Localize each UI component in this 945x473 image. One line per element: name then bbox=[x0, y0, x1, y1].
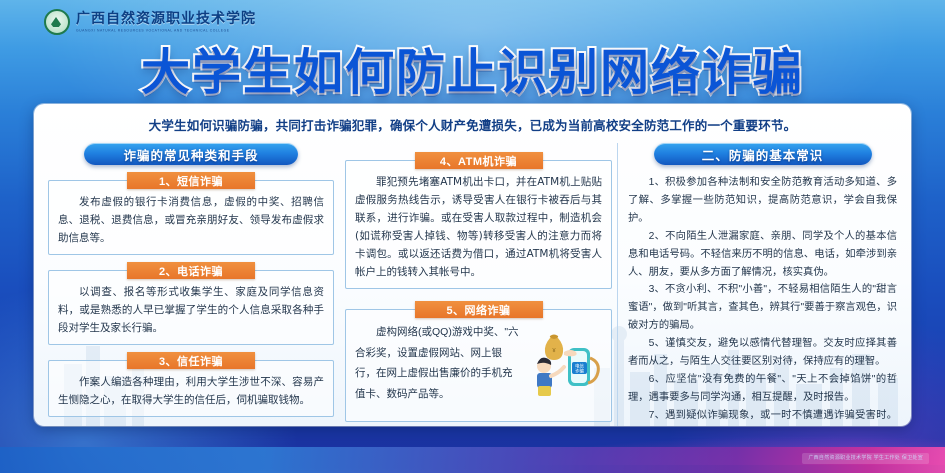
prevention-tip: 7、遇到疑似诈骗现象，或一时不慎遭遇诈骗受害时。应及时求助公安民警或保卫部门，并… bbox=[628, 407, 897, 426]
column-right: 二、防骗的基本常识 1、积极参加各种法制和安全防范教育活动多知道、多了解、多掌握… bbox=[617, 143, 897, 426]
prevention-tip: 1、积极参加各种法制和安全防范教育活动多知道、多了解、多掌握一些防范知识，提高防… bbox=[628, 174, 897, 228]
person-icon bbox=[537, 358, 564, 396]
fraud-card-sms: 1、短信诈骗 发布虚假的银行卡消费信息，虚假的中奖、招聘信息、退税、退费信息，或… bbox=[48, 180, 334, 255]
telecom-fraud-illustration: ￥ 电信 诈骗 bbox=[524, 324, 602, 398]
fraud-card-sms-title: 1、短信诈骗 bbox=[127, 172, 255, 189]
poster-subtitle: 大学生如何识骗防骗，共同打击诈骗犯罪，确保个人财产免遭损失，已成为当前高校安全防… bbox=[50, 115, 895, 134]
fraud-card-phone: 2、电话诈骗 以调查、报名等形式收集学生、家庭及同学信息资料，或是熟悉的人早已掌… bbox=[48, 270, 334, 345]
left-section-heading: 诈骗的常见种类和手段 bbox=[84, 143, 298, 165]
columns-container: 诈骗的常见种类和手段 1、短信诈骗 发布虚假的银行卡消费信息，虚假的中奖、招聘信… bbox=[34, 143, 911, 426]
poster-canvas: 广西自然资源职业技术学院 GUANGXI NATURAL RESOURCES V… bbox=[0, 0, 945, 473]
phone-label-line2: 诈骗 bbox=[575, 368, 584, 375]
fraud-card-network: 5、网络诈骗 虚构网络(或QQ)游戏中奖、"六合彩奖，设置虚假网站、网上银行，在… bbox=[345, 309, 612, 422]
column-left: 诈骗的常见种类和手段 1、短信诈骗 发布虚假的银行卡消费信息，虚假的中奖、招聘信… bbox=[48, 143, 340, 426]
prevention-tips-list: 1、积极参加各种法制和安全防范教育活动多知道、多了解、多掌握一些防范知识，提高防… bbox=[628, 174, 897, 426]
fraud-card-atm: 4、ATM机诈骗 罪犯预先堵塞ATM机出卡口，并在ATM机上贴贴虚假服务热线告示… bbox=[345, 160, 612, 289]
fraud-card-atm-body: 罪犯预先堵塞ATM机出卡口，并在ATM机上贴贴虚假服务热线告示，诱导受害人在银行… bbox=[355, 173, 602, 281]
phone-label-line1: 电信 bbox=[575, 363, 584, 370]
fraud-card-atm-title: 4、ATM机诈骗 bbox=[415, 152, 543, 169]
prevention-tip: 5、谨慎交友，避免以感情代替理智。交友时应择其善者而从之，与陌生人交往要区别对待… bbox=[628, 335, 897, 371]
fraud-card-network-content: 虚构网络(或QQ)游戏中奖、"六合彩奖，设置虚假网站、网上银行，在网上虚假出售廉… bbox=[355, 322, 602, 404]
college-brand: 广西自然资源职业技术学院 GUANGXI NATURAL RESOURCES V… bbox=[44, 9, 256, 35]
column-middle: 4、ATM机诈骗 罪犯预先堵塞ATM机出卡口，并在ATM机上贴贴虚假服务热线告示… bbox=[340, 143, 617, 426]
right-section-heading: 二、防骗的基本常识 bbox=[654, 143, 872, 165]
prevention-tip: 2、不向陌生人泄漏家庭、亲朋、同学及个人的基本信息和电话号码。不轻信来历不明的信… bbox=[628, 228, 897, 282]
fraud-card-phone-body: 以调查、报名等形式收集学生、家庭及同学信息资料，或是熟悉的人早已掌握了学生的个人… bbox=[58, 283, 324, 337]
fraud-card-network-title: 5、网络诈骗 bbox=[415, 301, 543, 318]
footer-credit: 广西自然资源职业技术学院 学生工作处 保卫处宣 bbox=[802, 453, 929, 465]
content-panel: 大学生如何识骗防骗，共同打击诈骗犯罪，确保个人财产免遭损失，已成为当前高校安全防… bbox=[34, 104, 911, 426]
fraud-card-trust-title: 3、信任诈骗 bbox=[127, 352, 255, 369]
fraud-card-trust-body: 作案人编造各种理由，利用大学生涉世不深、容易产生恻隐之心，在取得大学生的信任后，… bbox=[58, 373, 324, 409]
fraud-card-trust: 3、信任诈骗 作案人编造各种理由，利用大学生涉世不深、容易产生恻隐之心，在取得大… bbox=[48, 360, 334, 417]
college-seal-icon bbox=[44, 9, 70, 35]
telecom-fraud-illustration-svg: ￥ 电信 诈骗 bbox=[524, 324, 602, 398]
college-name-cn: 广西自然资源职业技术学院 bbox=[76, 12, 256, 26]
fraud-card-sms-body: 发布虚假的银行卡消费信息，虚假的中奖、招聘信息、退税、退费信息，或冒充亲朋好友、… bbox=[58, 193, 324, 247]
prevention-tip: 6、应坚信"没有免费的午餐"、"天上不会掉馅饼"的哲理，遇事要多与同学沟通，相互… bbox=[628, 371, 897, 407]
poster-title: 大学生如何防止识别网络诈骗 bbox=[0, 33, 945, 104]
fraud-card-phone-title: 2、电话诈骗 bbox=[127, 262, 255, 279]
prevention-tip: 3、不贪小利、不积"小善"，不轻易相信陌生人的"甜言蜜语"，做到"听其言，查其色… bbox=[628, 281, 897, 335]
fraud-card-network-body: 虚构网络(或QQ)游戏中奖、"六合彩奖，设置虚假网站、网上银行，在网上虚假出售廉… bbox=[355, 322, 522, 404]
college-brand-text: 广西自然资源职业技术学院 GUANGXI NATURAL RESOURCES V… bbox=[76, 12, 256, 32]
college-name-en: GUANGXI NATURAL RESOURCES VOCATIONAL AND… bbox=[76, 29, 256, 33]
svg-text:￥: ￥ bbox=[551, 348, 556, 354]
money-bag-icon: ￥ bbox=[545, 335, 563, 361]
